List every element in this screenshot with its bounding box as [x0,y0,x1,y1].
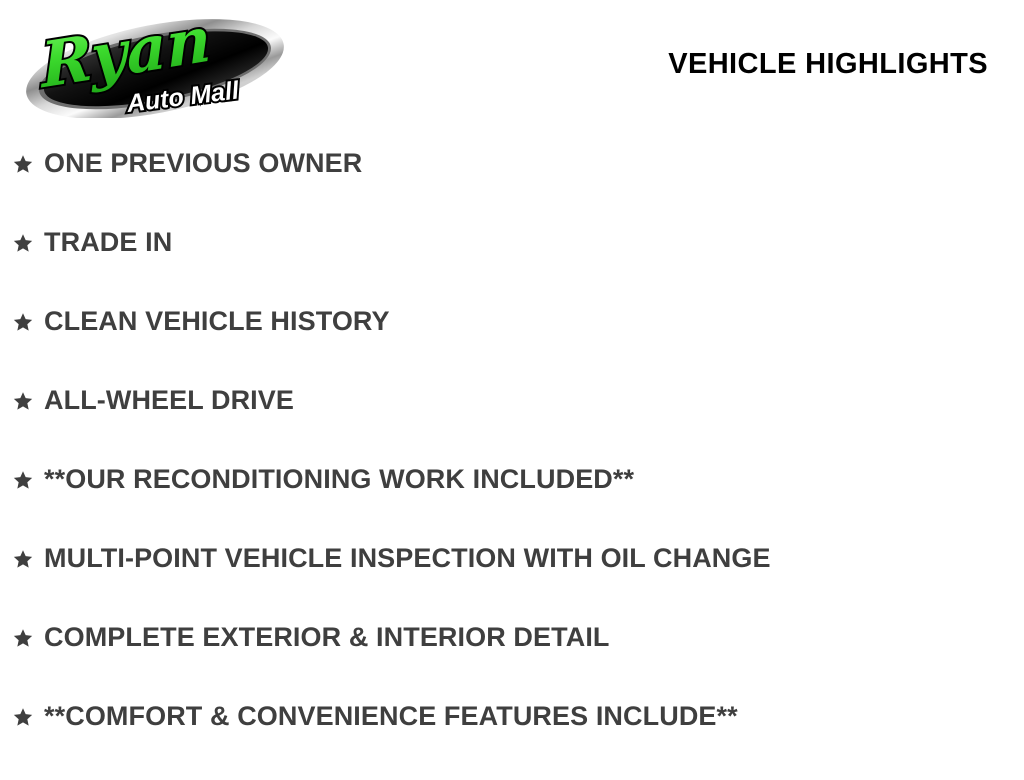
star-icon [13,233,33,253]
list-item-label: TRADE IN [44,227,172,257]
list-item-label: **COMFORT & CONVENIENCE FEATURES INCLUDE… [44,701,738,731]
vehicle-highlights-list: ONE PREVIOUS OWNER TRADE IN CLEAN VEHICL… [0,148,1024,780]
list-item-label: ONE PREVIOUS OWNER [44,148,362,178]
list-item-label: MULTI-POINT VEHICLE INSPECTION WITH OIL … [44,543,771,573]
list-item-label: ALL-WHEEL DRIVE [44,385,294,415]
star-icon [13,707,33,727]
star-icon [13,312,33,332]
list-item: ONE PREVIOUS OWNER [0,148,1024,227]
star-icon [13,154,33,174]
list-item: **OUR RECONDITIONING WORK INCLUDED** [0,464,1024,543]
ryan-auto-mall-logo-graphic: Ryan Auto Mall [16,12,294,118]
list-item: CLEAN VEHICLE HISTORY [0,306,1024,385]
list-item-label: COMPLETE EXTERIOR & INTERIOR DETAIL [44,622,610,652]
star-icon [13,470,33,490]
star-icon [13,628,33,648]
page-title: VEHICLE HIGHLIGHTS [668,50,988,79]
list-item: ALL-WHEEL DRIVE [0,385,1024,464]
vehicle-highlights-page: Ryan Auto Mall VEHICLE HIGHLIGHTS ONE PR… [0,0,1024,768]
list-item-label: **OUR RECONDITIONING WORK INCLUDED** [44,464,634,494]
list-item-label: CLEAN VEHICLE HISTORY [44,306,390,336]
dealer-logo: Ryan Auto Mall [16,12,294,118]
star-icon [13,549,33,569]
page-header: Ryan Auto Mall VEHICLE HIGHLIGHTS [0,0,1024,130]
list-item: COMPLETE EXTERIOR & INTERIOR DETAIL [0,622,1024,701]
list-item: **COMFORT & CONVENIENCE FEATURES INCLUDE… [0,701,1024,780]
list-item: TRADE IN [0,227,1024,306]
star-icon [13,391,33,411]
list-item: MULTI-POINT VEHICLE INSPECTION WITH OIL … [0,543,1024,622]
